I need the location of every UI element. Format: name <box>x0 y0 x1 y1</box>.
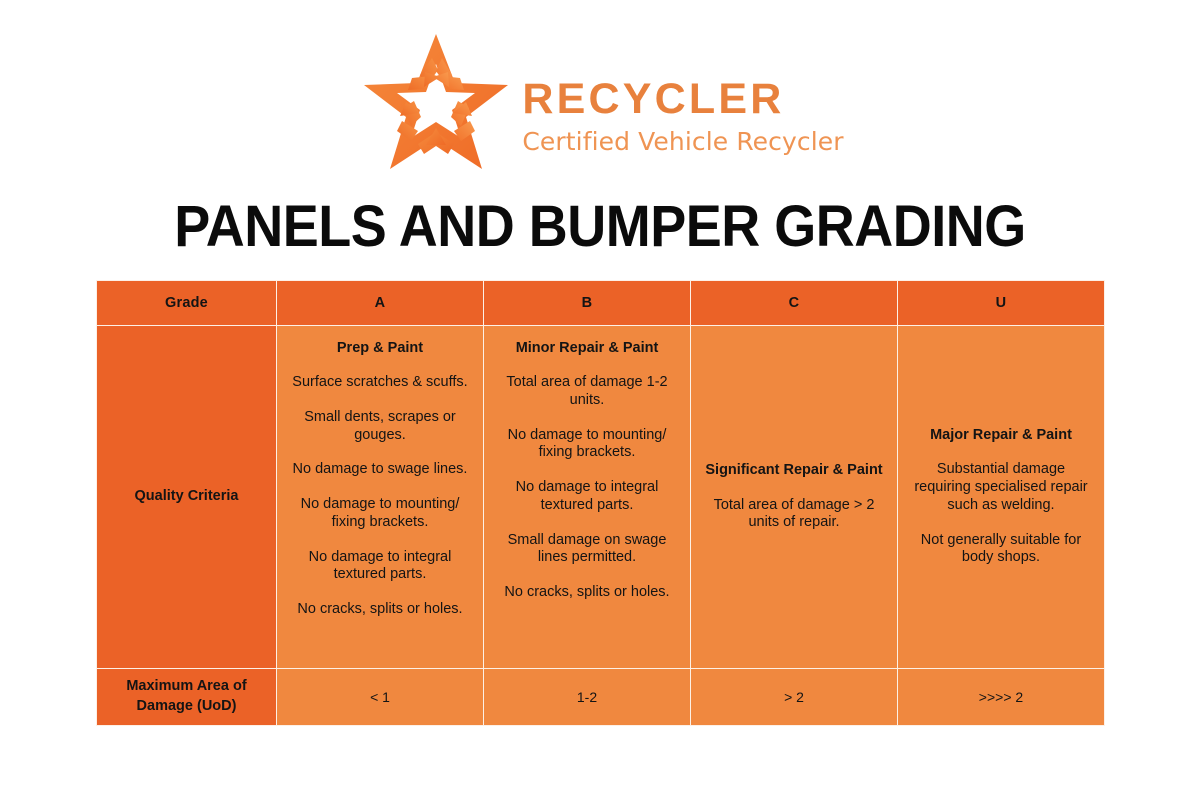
grading-poster: RECYCLER Certified Vehicle Recycler PANE… <box>0 0 1200 800</box>
criteria-line: Small damage on swage lines permitted. <box>496 532 678 567</box>
criteria-line: No damage to integral textured parts. <box>496 479 678 514</box>
maximum-area-value-b: 1-2 <box>484 669 691 726</box>
criteria-line: Total area of damage > 2 units of repair… <box>703 497 885 532</box>
criteria-heading-u: Major Repair & Paint <box>910 427 1092 444</box>
criteria-line: No damage to mounting/ fixing brackets. <box>289 496 471 531</box>
logo-tagline: Certified Vehicle Recycler <box>522 127 843 156</box>
criteria-line: No cracks, splits or holes. <box>289 601 471 619</box>
header-grade-b: B <box>484 281 691 326</box>
criteria-line: Small dents, scrapes or gouges. <box>289 409 471 444</box>
criteria-line: No cracks, splits or holes. <box>496 584 678 602</box>
maximum-area-value-u: >>>> 2 <box>898 669 1105 726</box>
brand-logo: RECYCLER Certified Vehicle Recycler <box>0 28 1200 178</box>
row-label-maximum-area: Maximum Area of Damage (UoD) <box>97 669 277 726</box>
header-grade-u: U <box>898 281 1105 326</box>
header-grade-a: A <box>277 281 484 326</box>
maximum-area-value-a: < 1 <box>277 669 484 726</box>
panels-bumper-grading-table: Grade A B C U Quality Criteria Prep & Pa… <box>96 280 1105 726</box>
criteria-line: Not generally suitable for body shops. <box>910 532 1092 567</box>
row-label-quality-criteria: Quality Criteria <box>97 326 277 669</box>
recycling-star-icon <box>356 28 516 178</box>
criteria-cell-grade-c: Significant Repair & Paint Total area of… <box>691 326 898 669</box>
header-grade-c: C <box>691 281 898 326</box>
maximum-area-value-c: > 2 <box>691 669 898 726</box>
logo-wordmark: RECYCLER <box>522 78 843 122</box>
table-header-row: Grade A B C U <box>97 281 1105 326</box>
table-row-maximum-area: Maximum Area of Damage (UoD) < 1 1-2 > 2… <box>97 669 1105 726</box>
criteria-line: Substantial damage requiring specialised… <box>910 461 1092 514</box>
criteria-line: Total area of damage 1-2 units. <box>496 374 678 409</box>
table-row-quality-criteria: Quality Criteria Prep & Paint Surface sc… <box>97 326 1105 669</box>
criteria-line: No damage to integral textured parts. <box>289 549 471 584</box>
criteria-line: Surface scratches & scuffs. <box>289 374 471 392</box>
criteria-cell-grade-a: Prep & Paint Surface scratches & scuffs.… <box>277 326 484 669</box>
header-grade-label: Grade <box>97 281 277 326</box>
page-title: PANELS AND BUMPER GRADING <box>42 193 1158 260</box>
criteria-line: No damage to swage lines. <box>289 461 471 479</box>
criteria-cell-grade-b: Minor Repair & Paint Total area of damag… <box>484 326 691 669</box>
criteria-heading-b: Minor Repair & Paint <box>496 340 678 357</box>
criteria-heading-a: Prep & Paint <box>289 340 471 357</box>
criteria-cell-grade-u: Major Repair & Paint Substantial damage … <box>898 326 1105 669</box>
criteria-heading-c: Significant Repair & Paint <box>703 462 885 479</box>
criteria-line: No damage to mounting/ fixing brackets. <box>496 427 678 462</box>
